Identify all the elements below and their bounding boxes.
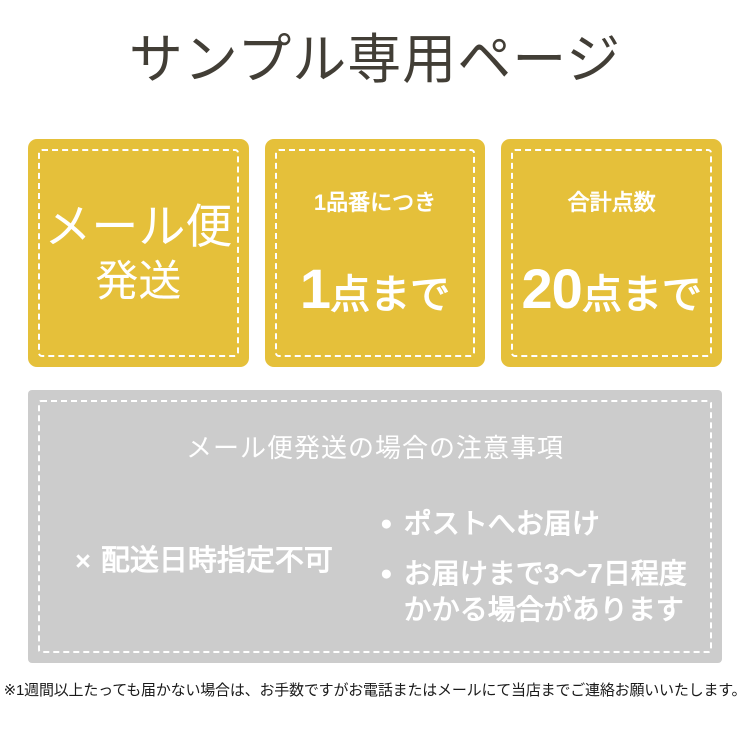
bullet-dot-icon: ●: [380, 506, 393, 542]
card-per-item-limit-value: 1点まで: [265, 261, 486, 317]
card-total-limit-caption: 合計点数: [501, 189, 722, 217]
cross-mark-icon: ×: [75, 546, 91, 576]
bullet-dot-icon: ●: [380, 556, 393, 592]
card-shipping-method-line1: メール便: [28, 198, 249, 256]
no-delivery-date-notice: ×配送日時指定不可: [75, 543, 333, 579]
notice-left-column: ×配送日時指定不可: [28, 500, 380, 640]
card-shipping-method-content: メール便 発送: [28, 198, 249, 308]
footnote-text: ※1週間以上たっても届かない場合は、お手数ですがお電話またはメールにて当店までご…: [0, 680, 750, 702]
bullet-text: お届けまで3〜7日程度 かかる場合があります: [404, 556, 687, 628]
bullet-line-1: ポストへお届け: [404, 508, 600, 539]
list-item: ● お届けまで3〜7日程度 かかる場合があります: [380, 556, 722, 628]
card-per-item-limit-number: 1: [300, 257, 330, 320]
bullet-line-1: お届けまで3〜7日程度: [404, 558, 687, 589]
list-item: ● ポストへお届け: [380, 506, 722, 542]
card-total-limit: 合計点数 20点まで: [501, 139, 722, 367]
notice-heading: メール便発送の場合の注意事項: [28, 432, 722, 464]
card-total-limit-content: 合計点数 20点まで: [501, 189, 722, 317]
card-per-item-limit-content: 1品番につき 1点まで: [265, 189, 486, 317]
card-shipping-method: メール便 発送: [28, 139, 249, 367]
card-shipping-method-line2: 発送: [28, 256, 249, 308]
card-total-limit-unit: 点まで: [582, 273, 702, 317]
page-title: サンプル専用ページ: [0, 28, 750, 92]
bullet-text: ポストへお届け: [404, 506, 600, 542]
card-per-item-limit-unit: 点まで: [330, 273, 450, 317]
no-delivery-date-label: 配送日時指定不可: [101, 545, 333, 577]
bullet-line-2: かかる場合があります: [404, 592, 687, 628]
card-per-item-limit-caption: 1品番につき: [265, 189, 486, 217]
card-per-item-limit: 1品番につき 1点まで: [265, 139, 486, 367]
card-total-limit-value: 20点まで: [501, 261, 722, 317]
sample-shipping-info-page: サンプル専用ページ メール便 発送 1品番につき 1点まで 合計点数: [0, 0, 750, 750]
info-cards-row: メール便 発送 1品番につき 1点まで 合計点数 20点まで: [28, 139, 722, 367]
notice-panel: メール便発送の場合の注意事項 ×配送日時指定不可 ● ポストへお届け ●: [28, 390, 722, 663]
notice-right-column: ● ポストへお届け ● お届けまで3〜7日程度 かかる場合があります: [380, 500, 722, 628]
notice-body: ×配送日時指定不可 ● ポストへお届け ● お届けまで3〜7日程度 かかる場合が…: [28, 500, 722, 640]
card-total-limit-number: 20: [522, 257, 582, 320]
